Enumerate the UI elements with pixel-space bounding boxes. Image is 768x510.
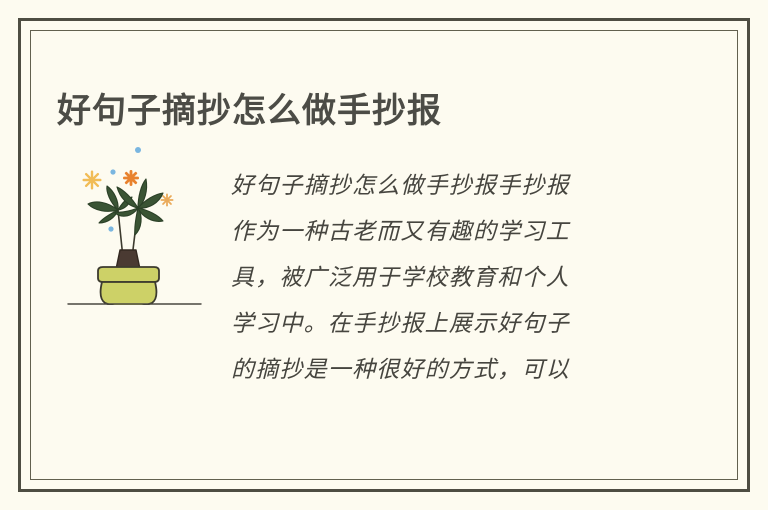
page-title: 好句子摘抄怎么做手抄报 [57, 89, 442, 133]
blue-dot-top-icon [135, 147, 141, 153]
article-body: 好句子摘抄怎么做手抄报手抄报 作为一种古老而又有趣的学习工 具，被广泛用于学校教… [231, 163, 651, 393]
potted-plant-illustration [62, 140, 207, 305]
blue-dot-low-icon [108, 226, 113, 231]
pot-rim-icon [98, 267, 159, 282]
orange-star-large-icon [123, 170, 139, 186]
body-line: 作为一种古老而又有趣的学习工 [231, 209, 651, 255]
yellow-star-left-icon [83, 171, 102, 190]
blue-dot-mid-icon [110, 169, 115, 174]
body-line: 学习中。在手抄报上展示好句子 [231, 301, 651, 347]
pot-body-icon [101, 282, 157, 305]
body-line: 好句子摘抄怎么做手抄报手抄报 [231, 163, 651, 209]
left-leaf-cluster-icon [88, 186, 132, 223]
body-line: 的摘抄是一种很好的方式，可以 [231, 347, 651, 393]
body-line: 具，被广泛用于学校教育和个人 [231, 255, 651, 301]
page-root: 好句子摘抄怎么做手抄报 [0, 0, 768, 510]
